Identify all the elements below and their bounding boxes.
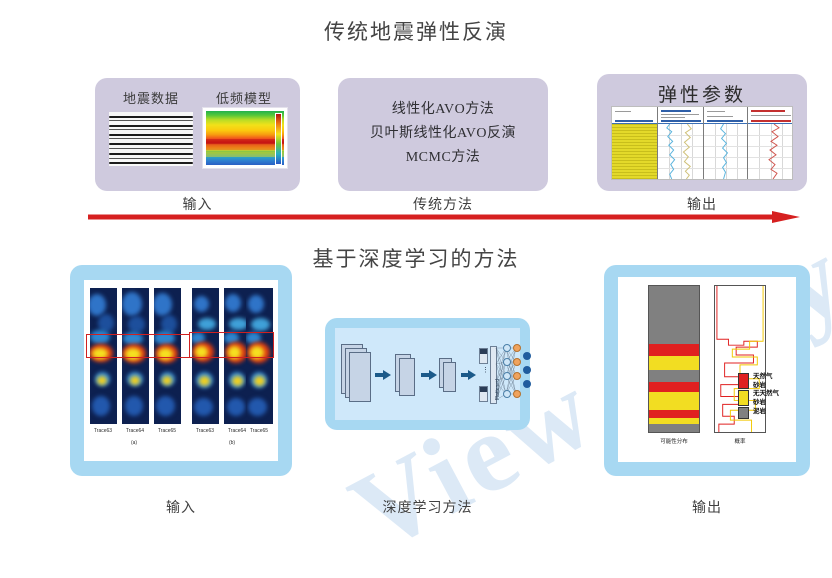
- panel-input-traditional: 地震数据 低频模型: [95, 78, 300, 191]
- legend-label-no-gas-sand-line2: 砂岩: [753, 399, 766, 407]
- bottom-section-title: 基于深度学习的方法: [0, 243, 832, 273]
- top-section-title: 传统地震弹性反演: [0, 16, 832, 46]
- legend-label-mudstone: 泥岩: [753, 408, 766, 416]
- well-log-display: [611, 106, 793, 180]
- spectrogram-group: Trace63 Trace64 Trace65 Trace63 Trace64 …: [84, 280, 278, 461]
- panel-network-deep: ⋮ Flattened: [325, 318, 530, 430]
- caption-output-deep: 输出: [604, 497, 810, 517]
- caption-probability: 概率: [714, 437, 766, 445]
- method-item-linear-avo: 线性化AVO方法: [338, 98, 548, 118]
- caption-input-deep: 输入: [70, 497, 292, 517]
- facies-result-figure: 可能性分布 概率 天然气 砂岩 无天然气 砂岩 泥岩: [618, 277, 796, 462]
- seismic-section-image: [109, 112, 193, 166]
- log-curve-tan: [658, 124, 703, 179]
- highlight-box-a: [86, 334, 190, 358]
- caption-facies-distribution: 可能性分布: [640, 437, 708, 445]
- trace-label-a2: Trace64: [118, 428, 152, 434]
- legend-label-gas-sand-line2: 砂岩: [753, 382, 766, 390]
- cnn-architecture-diagram: ⋮ Flattened: [335, 328, 520, 420]
- panel-methods-traditional: 线性化AVO方法 贝叶斯线性化AVO反演 MCMC方法: [338, 78, 548, 191]
- diagram-canvas: View Only 传统地震弹性反演 地震数据 低频模型: [0, 0, 832, 527]
- legend-swatch-gas-sand: [738, 373, 749, 389]
- panel-input-deep: Trace63 Trace64 Trace65 Trace63 Trace64 …: [70, 265, 292, 476]
- legend-swatch-mudstone: [738, 407, 749, 419]
- label-seismic-data: 地震数据: [103, 88, 199, 107]
- panel-output-deep: 可能性分布 概率 天然气 砂岩 无天然气 砂岩 泥岩: [604, 265, 810, 476]
- label-elastic-parameters: 弹性参数: [597, 80, 807, 107]
- log-curve-blue-2: [704, 124, 747, 179]
- method-item-bayesian-avo: 贝叶斯线性化AVO反演: [338, 122, 548, 142]
- flatten-ellipsis: ⋮: [482, 368, 489, 372]
- log-curve-red: [748, 124, 793, 179]
- caption-method-deep: 深度学习方法: [325, 497, 530, 517]
- subcaption-a: (a): [114, 440, 154, 446]
- legend-swatch-no-gas-sand: [738, 390, 749, 406]
- panel-output-traditional: 弹性参数: [597, 74, 807, 191]
- method-item-mcmc: MCMC方法: [338, 146, 548, 166]
- trace-label-b1: Trace63: [188, 428, 222, 434]
- highlight-box-b: [189, 332, 274, 358]
- legend-label-no-gas-sand-line1: 无天然气: [753, 390, 779, 398]
- facies-distribution-track: [648, 285, 700, 433]
- trace-label-a1: Trace63: [86, 428, 120, 434]
- legend-label-gas-sand-line1: 天然气: [753, 373, 773, 381]
- workflow-arrow-red: [88, 211, 800, 223]
- trace-label-a3: Trace65: [150, 428, 184, 434]
- subcaption-b: (b): [212, 440, 252, 446]
- trace-label-b3: Trace65: [242, 428, 276, 434]
- label-lowfreq-model: 低频模型: [196, 88, 292, 107]
- lowfreq-model-image: [203, 108, 287, 168]
